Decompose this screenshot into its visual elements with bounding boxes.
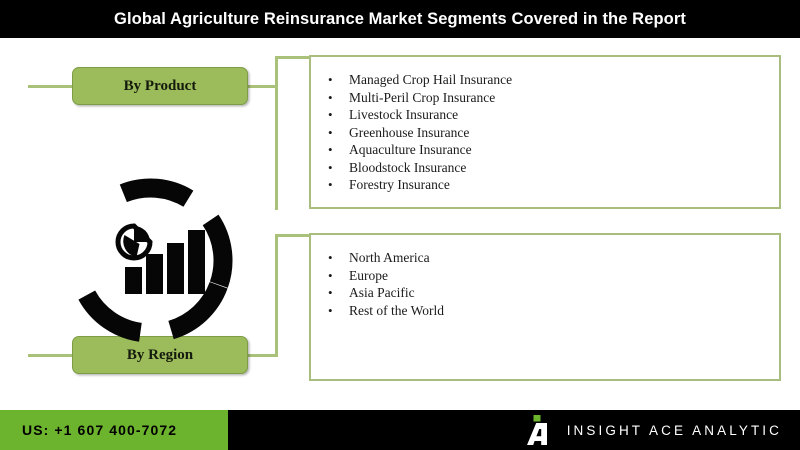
bullet-icon: • — [328, 302, 349, 320]
branch-label-text: By Region — [127, 347, 193, 364]
connector-top-product — [275, 56, 309, 59]
brand-lockup: INSIGHT ACE ANALYTIC — [524, 410, 782, 450]
list-item: • Aquaculture Insurance — [328, 141, 779, 159]
bullet-icon: • — [328, 159, 349, 177]
list-item: • Managed Crop Hail Insurance — [328, 71, 779, 89]
bullet-icon: • — [328, 176, 349, 194]
footer-bar: US: +1 607 400-7072 INSIGHT ACE ANALYTIC — [0, 410, 800, 450]
list-item-label: Europe — [349, 267, 388, 285]
list-item-label: Bloodstock Insurance — [349, 159, 466, 177]
list-item: • Multi-Peril Crop Insurance — [328, 89, 779, 107]
list-item-label: Forestry Insurance — [349, 176, 450, 194]
list-item: • Forestry Insurance — [328, 176, 779, 194]
list-item-label: Rest of the World — [349, 302, 444, 320]
branch-label-text: By Product — [124, 78, 197, 95]
analytics-chart-icon — [68, 178, 233, 343]
list-item: • Europe — [328, 267, 779, 285]
list-item: • Bloodstock Insurance — [328, 159, 779, 177]
bullet-icon: • — [328, 71, 349, 89]
product-list: • Managed Crop Hail Insurance • Multi-Pe… — [311, 57, 779, 194]
bullet-icon: • — [328, 124, 349, 142]
branch-label-by-product[interactable]: By Product — [72, 67, 248, 105]
bullet-icon: • — [328, 106, 349, 124]
list-item: • Livestock Insurance — [328, 106, 779, 124]
list-item-label: Greenhouse Insurance — [349, 124, 469, 142]
content-box-by-region: • North America • Europe • Asia Pacific … — [309, 233, 781, 381]
list-item-label: Asia Pacific — [349, 284, 415, 302]
list-item-label: Livestock Insurance — [349, 106, 458, 124]
brand-name-text: INSIGHT ACE ANALYTIC — [567, 423, 782, 438]
bullet-icon: • — [328, 89, 349, 107]
list-item-label: North America — [349, 249, 430, 267]
list-item-label: Managed Crop Hail Insurance — [349, 71, 512, 89]
connector-right-stub-region — [245, 354, 277, 357]
footer-phone-band[interactable]: US: +1 607 400-7072 — [0, 410, 228, 450]
bullet-icon: • — [328, 284, 349, 302]
list-item: • Greenhouse Insurance — [328, 124, 779, 142]
insight-ace-a-logo-icon — [524, 415, 550, 445]
bullet-icon: • — [328, 267, 349, 285]
connector-right-stub-product — [245, 85, 277, 88]
connector-vertical-region — [275, 234, 278, 357]
list-item: • Asia Pacific — [328, 284, 779, 302]
list-item: • North America — [328, 249, 779, 267]
bullet-icon: • — [328, 249, 349, 267]
footer-phone-text: US: +1 607 400-7072 — [0, 422, 177, 438]
connector-vertical-product — [275, 56, 278, 210]
diagram-stage: By Product By Region • Managed — [0, 38, 800, 410]
region-list: • North America • Europe • Asia Pacific … — [311, 235, 779, 319]
list-item-label: Multi-Peril Crop Insurance — [349, 89, 495, 107]
page-title: Global Agriculture Reinsurance Market Se… — [0, 0, 800, 38]
list-item: • Rest of the World — [328, 302, 779, 320]
list-item-label: Aquaculture Insurance — [349, 141, 472, 159]
connector-bottom-region — [275, 234, 309, 237]
connector-left-stub-region — [28, 354, 72, 357]
connector-left-stub-product — [28, 85, 72, 88]
content-box-by-product: • Managed Crop Hail Insurance • Multi-Pe… — [309, 55, 781, 209]
bullet-icon: • — [328, 141, 349, 159]
